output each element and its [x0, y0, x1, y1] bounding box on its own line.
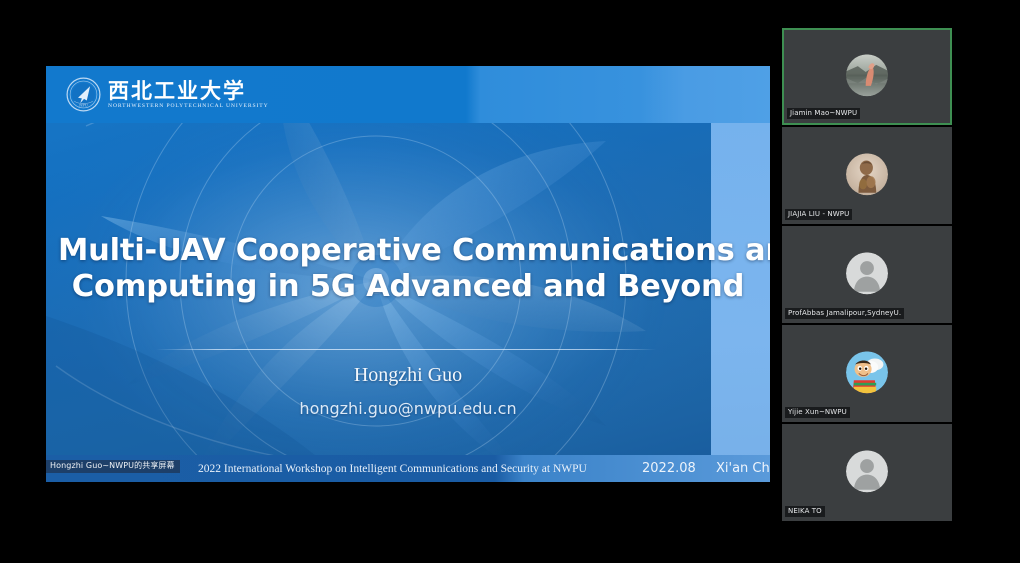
footer-conference-name: 2022 International Workshop on Intellige…	[198, 463, 587, 475]
participant-name: Jiamin Mao~NWPU	[787, 108, 860, 119]
slide-header-accent	[640, 66, 770, 123]
svg-text:NPU: NPU	[79, 104, 87, 108]
footer-date: 2022.08	[642, 461, 696, 476]
participant-tile[interactable]: Yijie Xun~NWPU	[782, 325, 952, 422]
presentation-slide: NPU 西北工业大学 NORTHWESTERN POLYTECHNICAL UN…	[46, 66, 770, 482]
presenter-name: Hongzhi Guo	[46, 364, 770, 387]
slide-divider	[156, 349, 656, 350]
slide-title-line-1: Multi-UAV Cooperative Communications and	[58, 233, 758, 269]
participant-name: NEIKA TO	[785, 506, 825, 517]
avatar	[846, 351, 888, 393]
avatar	[846, 54, 888, 96]
presenter-email: hongzhi.guo@nwpu.edu.cn	[46, 399, 770, 418]
university-logo: NPU 西北工业大学 NORTHWESTERN POLYTECHNICAL UN…	[66, 77, 269, 112]
shared-screen-area[interactable]: NPU 西北工业大学 NORTHWESTERN POLYTECHNICAL UN…	[46, 66, 770, 482]
university-name-en: NORTHWESTERN POLYTECHNICAL UNIVERSITY	[108, 103, 269, 109]
nwpu-seal-icon: NPU	[66, 77, 101, 112]
avatar	[846, 153, 888, 195]
participant-name: Yijie Xun~NWPU	[785, 407, 850, 418]
slide-title-line-2: Computing in 5G Advanced and Beyond	[58, 269, 758, 305]
avatar	[846, 252, 888, 294]
participant-tile[interactable]: Jiamin Mao~NWPU	[782, 28, 952, 125]
avatar	[846, 450, 888, 492]
participant-tile[interactable]: ProfAbbas Jamalipour,SydneyU.	[782, 226, 952, 323]
university-name-cn: 西北工业大学	[108, 80, 269, 102]
participant-tile[interactable]: NEIKA TO	[782, 424, 952, 521]
participant-name: ProfAbbas Jamalipour,SydneyU.	[785, 308, 904, 319]
participant-filmstrip[interactable]: Jiamin Mao~NWPU	[782, 28, 952, 524]
zoom-meeting-window: NPU 西北工业大学 NORTHWESTERN POLYTECHNICAL UN…	[0, 0, 1020, 563]
participant-name: JIAJIA LIU - NWPU	[785, 209, 852, 220]
footer-location: Xi'an China	[716, 461, 770, 476]
participant-tile[interactable]: JIAJIA LIU - NWPU	[782, 127, 952, 224]
slide-title: Multi-UAV Cooperative Communications and…	[46, 233, 770, 305]
screen-share-indicator: Hongzhi Guo~NWPU的共享屏幕	[46, 460, 180, 473]
